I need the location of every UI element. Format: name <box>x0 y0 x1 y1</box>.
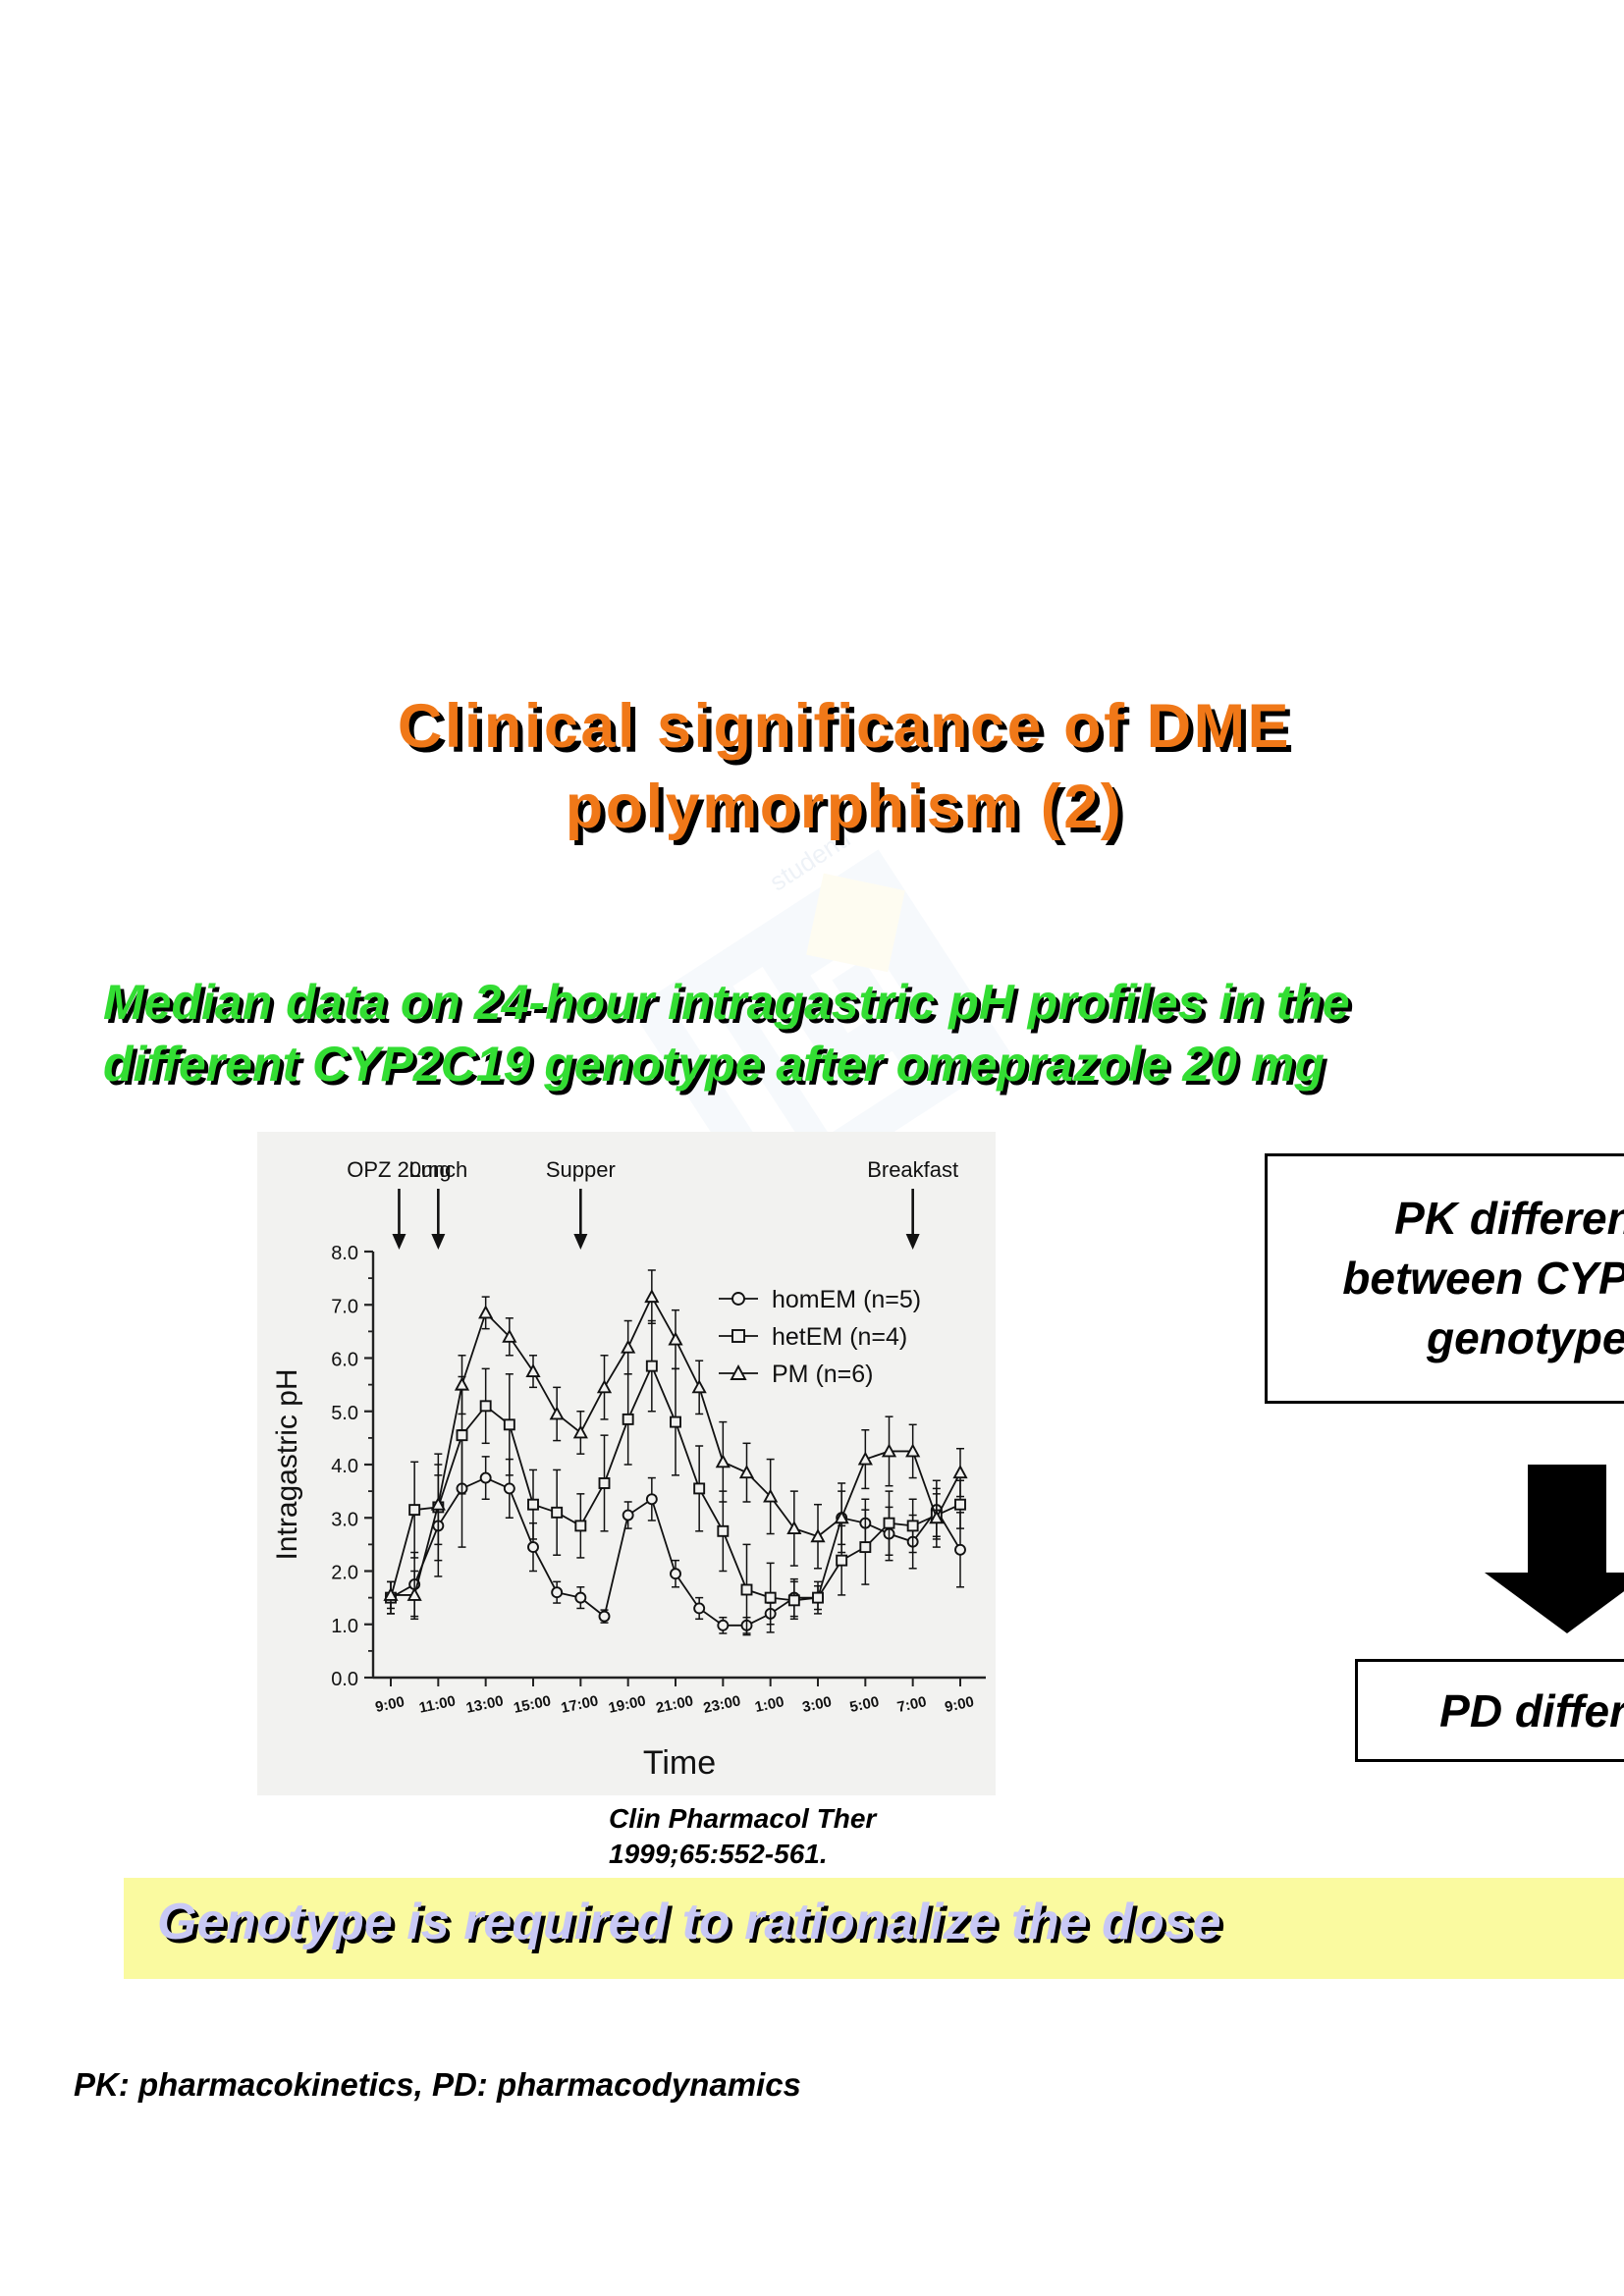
pk-box-line-2: between CYP2C19 <box>1342 1249 1624 1308</box>
svg-text:5.0: 5.0 <box>331 1403 358 1424</box>
subtitle: Median data on 24-hour intragastric pH p… <box>103 972 1624 1095</box>
svg-text:PM (n=6): PM (n=6) <box>772 1361 874 1388</box>
pd-difference-box: PD difference <box>1355 1659 1624 1762</box>
svg-text:Intragastric pH: Intragastric pH <box>271 1368 303 1560</box>
svg-text:1.0: 1.0 <box>331 1616 358 1637</box>
pk-box-line-3: genotypes <box>1342 1308 1624 1368</box>
intragastric-ph-chart: 0.01.02.03.04.05.06.07.08.09:0011:0013:0… <box>257 1132 996 1795</box>
svg-text:7.0: 7.0 <box>331 1296 358 1317</box>
slide-canvas: studenti il parlo Clinical significance … <box>0 0 1624 2296</box>
svg-text:Time: Time <box>643 1744 716 1782</box>
svg-text:6.0: 6.0 <box>331 1350 358 1371</box>
title-line-2: polymorphism (2) <box>118 768 1571 848</box>
page-title: Clinical significance of DME polymorphis… <box>118 687 1571 848</box>
down-arrow-icon <box>1485 1465 1624 1633</box>
pk-difference-box: PK difference between CYP2C19 genotypes <box>1265 1153 1624 1404</box>
svg-text:2.0: 2.0 <box>331 1563 358 1584</box>
pk-box-line-1: PK difference <box>1342 1189 1624 1249</box>
pd-box-line-1: PD difference <box>1439 1684 1624 1737</box>
svg-text:8.0: 8.0 <box>331 1243 358 1264</box>
svg-text:Supper: Supper <box>546 1157 616 1182</box>
footer-abbreviations: PK: pharmacokinetics, PD: pharmacodynami… <box>74 2066 801 2104</box>
svg-text:0.0: 0.0 <box>331 1669 358 1690</box>
svg-text:4.0: 4.0 <box>331 1456 358 1477</box>
title-line-1: Clinical significance of DME <box>118 687 1571 768</box>
svg-text:Breakfast: Breakfast <box>867 1157 958 1182</box>
svg-text:Lunch: Lunch <box>408 1157 467 1182</box>
citation: Clin Pharmacol Ther 1999;65:552-561. <box>609 1801 1031 1872</box>
svg-text:hetEM (n=4): hetEM (n=4) <box>772 1323 907 1351</box>
svg-text:3.0: 3.0 <box>331 1509 358 1530</box>
banner-text: Genotype is required to rationalize the … <box>157 1893 1624 1951</box>
svg-text:homEM (n=5): homEM (n=5) <box>772 1286 921 1313</box>
subtitle-line-1: Median data on 24-hour intragastric pH p… <box>103 972 1624 1034</box>
subtitle-line-2: different CYP2C19 genotype after omepraz… <box>103 1034 1624 1095</box>
